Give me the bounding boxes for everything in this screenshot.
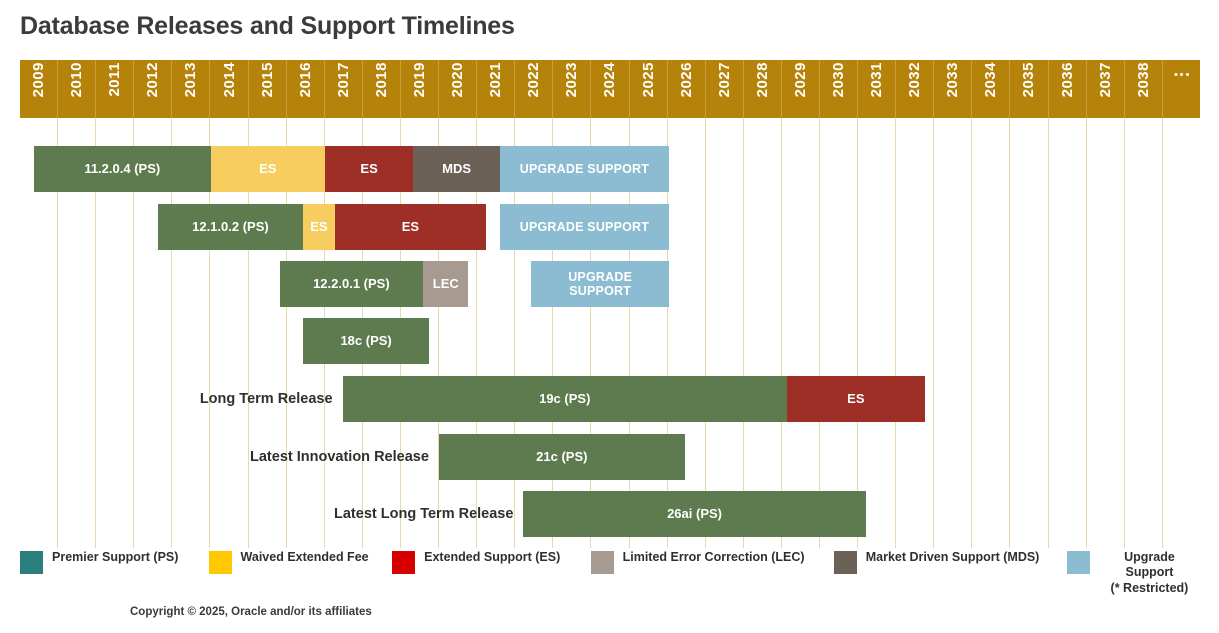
year-column-2038: 2038: [1125, 60, 1163, 118]
legend-swatch: [1067, 551, 1090, 574]
timeline-row-11-2-0-4: 11.2.0.4 (PS)ESESMDSUPGRADE SUPPORT: [20, 146, 1200, 192]
year-label: 2034: [982, 62, 999, 97]
year-label: 2020: [449, 62, 466, 97]
year-label: 2036: [1059, 62, 1076, 97]
year-label: 2013: [182, 62, 199, 97]
year-label: 2026: [678, 62, 695, 97]
timeline-row-18c: 18c (PS): [20, 318, 1200, 364]
legend-swatch: [591, 551, 614, 574]
year-label: 2031: [868, 62, 885, 97]
legend-label: Upgrade Support (* Restricted): [1099, 550, 1200, 596]
row-label: Long Term Release: [20, 376, 343, 422]
year-column-2016: 2016: [287, 60, 325, 118]
year-label: 2011: [106, 62, 123, 97]
year-column-2023: 2023: [553, 60, 591, 118]
year-label: 2021: [487, 62, 504, 97]
legend-item: Upgrade Support (* Restricted): [1067, 550, 1200, 596]
year-column-2026: 2026: [668, 60, 706, 118]
legend-label: Premier Support (PS): [52, 550, 178, 565]
bar-segment-up: UPGRADE SUPPORT: [500, 146, 669, 192]
legend-swatch: [20, 551, 43, 574]
timeline-row-12-1-0-2: 12.1.0.2 (PS)ESESUPGRADE SUPPORT: [20, 204, 1200, 250]
year-column-2028: 2028: [744, 60, 782, 118]
year-column-2021: 2021: [477, 60, 515, 118]
year-column-2024: 2024: [591, 60, 629, 118]
timeline-row-21c: Latest Innovation Release21c (PS): [20, 434, 1200, 480]
legend-label: Market Driven Support (MDS): [866, 550, 1040, 565]
year-label: 2022: [525, 62, 542, 97]
year-column-2022: 2022: [515, 60, 553, 118]
year-label: 2028: [754, 62, 771, 97]
year-column-2009: 2009: [20, 60, 58, 118]
year-label: 2012: [144, 62, 161, 97]
year-label: 2033: [944, 62, 961, 97]
bar-segment-ps: 21c (PS): [439, 434, 685, 480]
year-column-overflow: ⋮: [1163, 60, 1200, 118]
year-label: 2023: [563, 62, 580, 97]
year-column-2019: 2019: [401, 60, 439, 118]
bar-segment-es: ES: [787, 376, 925, 422]
timeline-plot-area: 11.2.0.4 (PS)ESESMDSUPGRADE SUPPORT12.1.…: [20, 118, 1200, 548]
year-column-2013: 2013: [172, 60, 210, 118]
bar-segment-ps: 26ai (PS): [523, 491, 865, 537]
bar-segment-wef: ES: [303, 204, 334, 250]
copyright-text: Copyright © 2025, Oracle and/or its affi…: [130, 606, 372, 618]
bar-segment-ps: 11.2.0.4 (PS): [34, 146, 211, 192]
year-label: 2027: [716, 62, 733, 97]
bar-segment-wef: ES: [211, 146, 325, 192]
row-label: Latest Long Term Release: [20, 491, 523, 537]
row-label: Latest Innovation Release: [20, 434, 439, 480]
year-column-2025: 2025: [630, 60, 668, 118]
bar-segment-ps: 19c (PS): [343, 376, 787, 422]
vertical-ellipsis-icon: ⋮: [1173, 66, 1190, 83]
timeline-row-26ai: Latest Long Term Release26ai (PS): [20, 491, 1200, 537]
legend-item: Extended Support (ES): [392, 550, 590, 574]
year-column-2036: 2036: [1049, 60, 1087, 118]
year-label: 2029: [792, 62, 809, 97]
legend-item: Premier Support (PS): [20, 550, 209, 574]
year-column-2033: 2033: [934, 60, 972, 118]
bar-segment-up: UPGRADE SUPPORT: [500, 204, 669, 250]
year-column-2030: 2030: [820, 60, 858, 118]
legend-item: Limited Error Correction (LEC): [591, 550, 834, 574]
year-column-2031: 2031: [858, 60, 896, 118]
year-label: 2037: [1097, 62, 1114, 97]
timeline-year-header: 2009201020112012201320142015201620172018…: [20, 60, 1200, 118]
bar-segment-ps: 12.1.0.2 (PS): [158, 204, 304, 250]
bar-segment-mds: MDS: [413, 146, 500, 192]
year-label: 2025: [640, 62, 657, 97]
year-column-2035: 2035: [1010, 60, 1048, 118]
legend-label: Limited Error Correction (LEC): [623, 550, 805, 565]
year-label: 2024: [601, 62, 618, 97]
year-label: 2019: [411, 62, 428, 97]
bar-segment-lec: LEC: [423, 261, 468, 307]
year-label: 2009: [30, 62, 47, 97]
year-column-2037: 2037: [1087, 60, 1125, 118]
bar-segment-ps: 18c (PS): [303, 318, 429, 364]
legend-swatch: [834, 551, 857, 574]
year-label: 2030: [830, 62, 847, 97]
timeline-row-12-2-0-1: 12.2.0.1 (PS)LECUPGRADE SUPPORT: [20, 261, 1200, 307]
year-column-2012: 2012: [134, 60, 172, 118]
legend-item: Waived Extended Fee: [209, 550, 393, 574]
legend-item: Market Driven Support (MDS): [834, 550, 1067, 574]
year-label: 2038: [1135, 62, 1152, 97]
timeline-row-19c: Long Term Release19c (PS)ES: [20, 376, 1200, 422]
year-column-2034: 2034: [972, 60, 1010, 118]
legend: Premier Support (PS)Waived Extended FeeE…: [20, 550, 1200, 588]
year-column-2029: 2029: [782, 60, 820, 118]
year-label: 2014: [221, 62, 238, 97]
year-label: 2015: [259, 62, 276, 97]
year-label: 2016: [297, 62, 314, 97]
legend-label: Waived Extended Fee: [241, 550, 369, 565]
year-column-2015: 2015: [249, 60, 287, 118]
year-column-2020: 2020: [439, 60, 477, 118]
year-column-2011: 2011: [96, 60, 134, 118]
bar-segment-es: ES: [335, 204, 486, 250]
year-label: 2017: [335, 62, 352, 97]
year-label: 2032: [906, 62, 923, 97]
year-column-2032: 2032: [896, 60, 934, 118]
year-column-2027: 2027: [706, 60, 744, 118]
bar-segment-up: UPGRADE SUPPORT: [531, 261, 669, 307]
timeline-bars: 11.2.0.4 (PS)ESESMDSUPGRADE SUPPORT12.1.…: [20, 118, 1200, 548]
legend-swatch: [209, 551, 232, 574]
bar-segment-es: ES: [325, 146, 414, 192]
year-column-2017: 2017: [325, 60, 363, 118]
year-column-2018: 2018: [363, 60, 401, 118]
legend-label: Extended Support (ES): [424, 550, 560, 565]
year-label: 2018: [373, 62, 390, 97]
legend-swatch: [392, 551, 415, 574]
page-title: Database Releases and Support Timelines: [20, 12, 515, 41]
year-column-2014: 2014: [210, 60, 248, 118]
year-label: 2035: [1020, 62, 1037, 97]
year-column-2010: 2010: [58, 60, 96, 118]
year-label: 2010: [68, 62, 85, 97]
bar-segment-ps: 12.2.0.1 (PS): [280, 261, 424, 307]
